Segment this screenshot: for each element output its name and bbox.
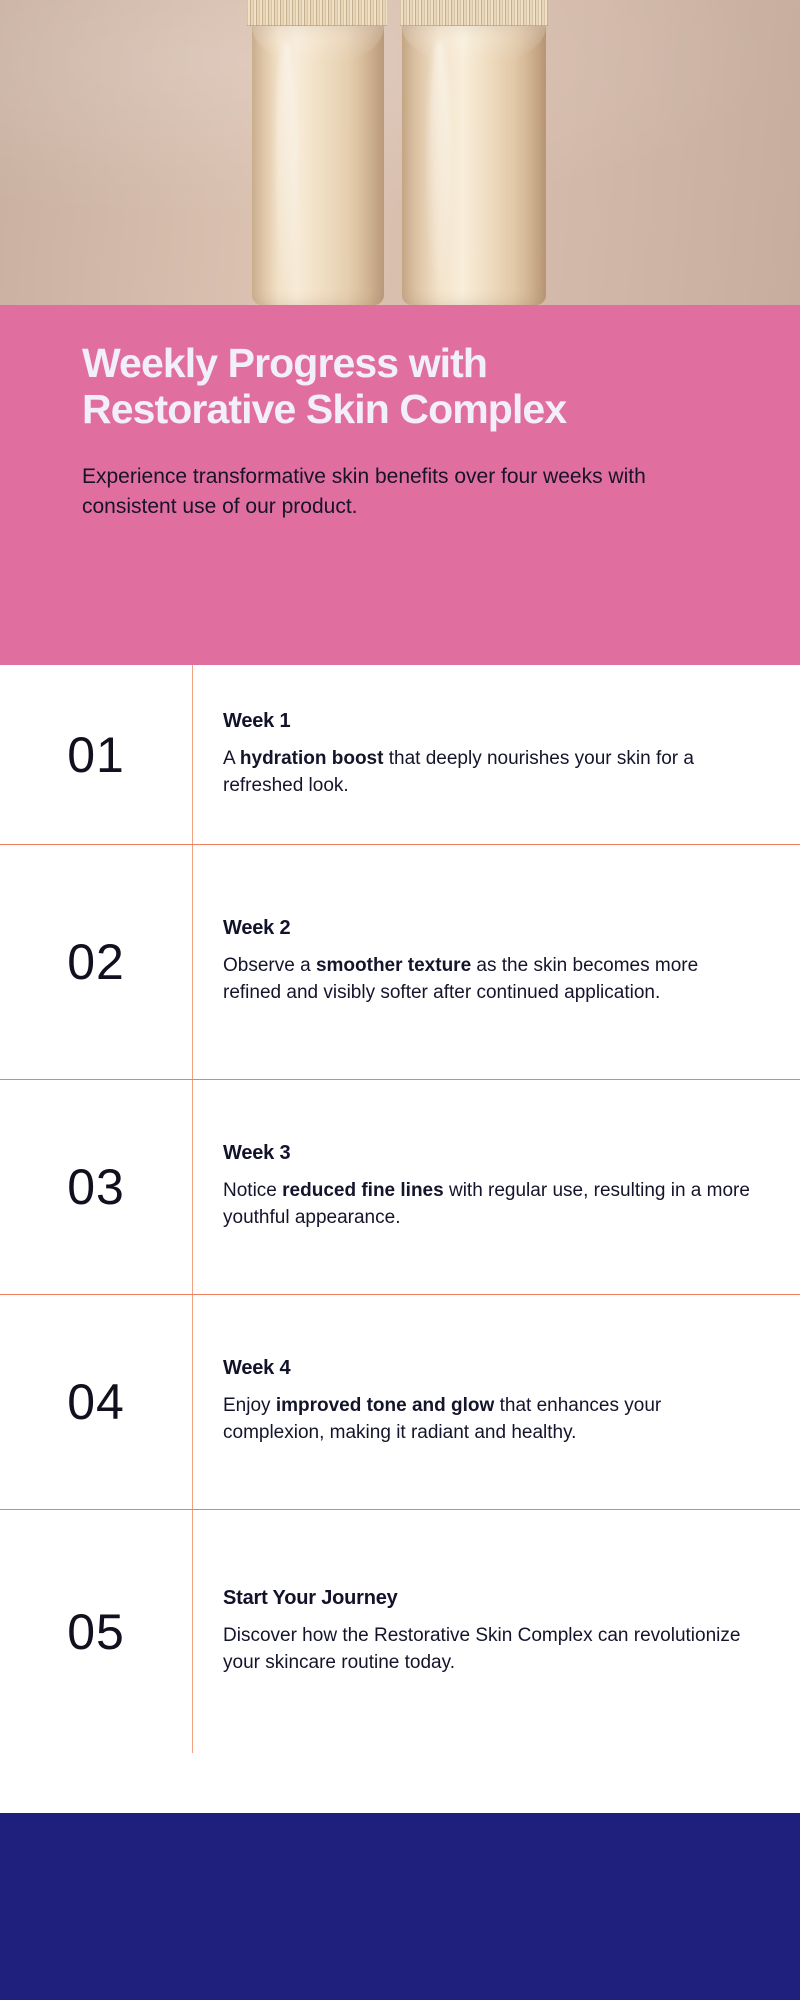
list-item[interactable]: 05 Start Your Journey Discover how the R… — [0, 1510, 800, 1753]
infographic-page: Weekly Progress with Restorative Skin Co… — [0, 0, 800, 2000]
step-description: Notice reduced fine lines with regular u… — [223, 1178, 756, 1232]
step-description: Discover how the Restorative Skin Comple… — [223, 1623, 756, 1677]
desc-pre: Notice — [223, 1180, 282, 1201]
hero-background — [0, 0, 800, 305]
step-number: 05 — [0, 1510, 192, 1753]
step-title: Week 4 — [223, 1357, 756, 1380]
page-subtitle: Experience transformative skin benefits … — [82, 462, 722, 522]
steps-list: 01 Week 1 A hydration boost that deeply … — [0, 665, 800, 1753]
step-number: 02 — [0, 845, 192, 1079]
step-content: Start Your Journey Discover how the Rest… — [192, 1510, 800, 1753]
tube-shoulder-right — [402, 26, 546, 62]
step-title: Week 1 — [223, 710, 756, 733]
desc-bold: hydration boost — [240, 748, 384, 769]
tube-highlight-left — [276, 40, 297, 286]
list-item[interactable]: 01 Week 1 A hydration boost that deeply … — [0, 665, 800, 845]
header-band: Weekly Progress with Restorative Skin Co… — [0, 305, 800, 665]
step-number: 04 — [0, 1295, 192, 1509]
step-content: Week 4 Enjoy improved tone and glow that… — [192, 1295, 800, 1509]
step-title: Week 3 — [223, 1142, 756, 1165]
desc-bold: smoother texture — [316, 955, 471, 976]
page-title: Weekly Progress with Restorative Skin Co… — [82, 341, 652, 432]
step-description: Enjoy improved tone and glow that enhanc… — [223, 1393, 756, 1447]
step-number: 01 — [0, 665, 192, 844]
desc-pre: A — [223, 748, 240, 769]
list-item[interactable]: 02 Week 2 Observe a smoother texture as … — [0, 845, 800, 1080]
step-content: Week 2 Observe a smoother texture as the… — [192, 845, 800, 1079]
cream-tube-left — [252, 26, 384, 305]
cream-tube-right — [402, 26, 546, 305]
step-content: Week 3 Notice reduced fine lines with re… — [192, 1080, 800, 1294]
desc-pre: Discover how the Restorative Skin Comple… — [223, 1625, 740, 1673]
step-title: Start Your Journey — [223, 1587, 756, 1610]
list-item[interactable]: 03 Week 3 Notice reduced fine lines with… — [0, 1080, 800, 1295]
step-number: 03 — [0, 1080, 192, 1294]
desc-bold: reduced fine lines — [282, 1180, 444, 1201]
tube-highlight-right — [428, 40, 451, 286]
desc-pre: Enjoy — [223, 1395, 276, 1416]
step-description: A hydration boost that deeply nourishes … — [223, 746, 756, 800]
tube-crimp-right — [400, 0, 548, 26]
list-item[interactable]: 04 Week 4 Enjoy improved tone and glow t… — [0, 1295, 800, 1510]
tube-crimp-left — [247, 0, 387, 26]
step-content: Week 1 A hydration boost that deeply nou… — [192, 665, 800, 844]
desc-pre: Observe a — [223, 955, 316, 976]
hero-product-image — [0, 0, 800, 305]
footer-band — [0, 1813, 800, 2000]
tube-shoulder-left — [252, 26, 384, 62]
desc-bold: improved tone and glow — [276, 1395, 495, 1416]
step-description: Observe a smoother texture as the skin b… — [223, 953, 756, 1007]
step-title: Week 2 — [223, 917, 756, 940]
